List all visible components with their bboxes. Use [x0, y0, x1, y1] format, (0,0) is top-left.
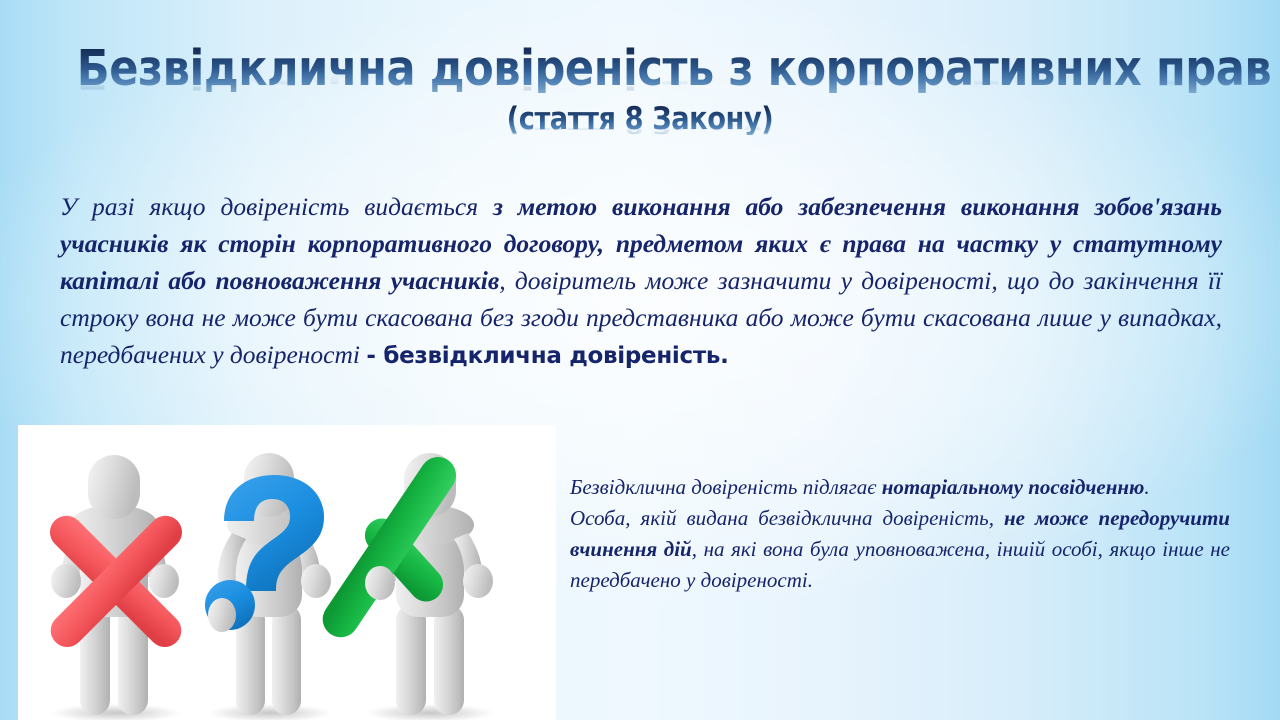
slide-title-text: Безвідклична довіреність з корпоративних… [77, 44, 1271, 93]
slide-canvas: Безвідклична довіреність з корпоративних… [0, 0, 1280, 720]
side-p1-bold: нотаріальному посвідченню [882, 475, 1145, 499]
main-paragraph-term: - безвідклична довіреність. [366, 343, 728, 369]
main-paragraph-run-plain-1: У разі якщо довіреність видається [60, 192, 493, 221]
side-text-block: Безвідклична довіреність підлягає нотарі… [570, 472, 1230, 596]
illustration-panel [18, 425, 556, 720]
three-figures-illustration [18, 425, 556, 720]
main-paragraph: У разі якщо довіреність видається з мето… [60, 188, 1222, 375]
side-paragraph-2: Особа, якій видана безвідклична довірені… [570, 503, 1230, 596]
slide-title: Безвідклична довіреність з корпоративних… [77, 44, 1203, 93]
side-paragraph-1: Безвідклична довіреність підлягає нотарі… [570, 472, 1230, 503]
title-block: Безвідклична довіреність з корпоративних… [0, 44, 1280, 135]
side-p1-plain-a: Безвідклична довіреність підлягає [570, 475, 882, 499]
slide-subtitle: (стаття 8 Закону) (стаття 8 Закону) [77, 104, 1203, 135]
slide-subtitle-text: (стаття 8 Закону) [507, 104, 774, 135]
side-p2-plain-a: Особа, якій видана безвідклична довірені… [570, 506, 1004, 530]
side-p1-plain-b: . [1144, 475, 1149, 499]
